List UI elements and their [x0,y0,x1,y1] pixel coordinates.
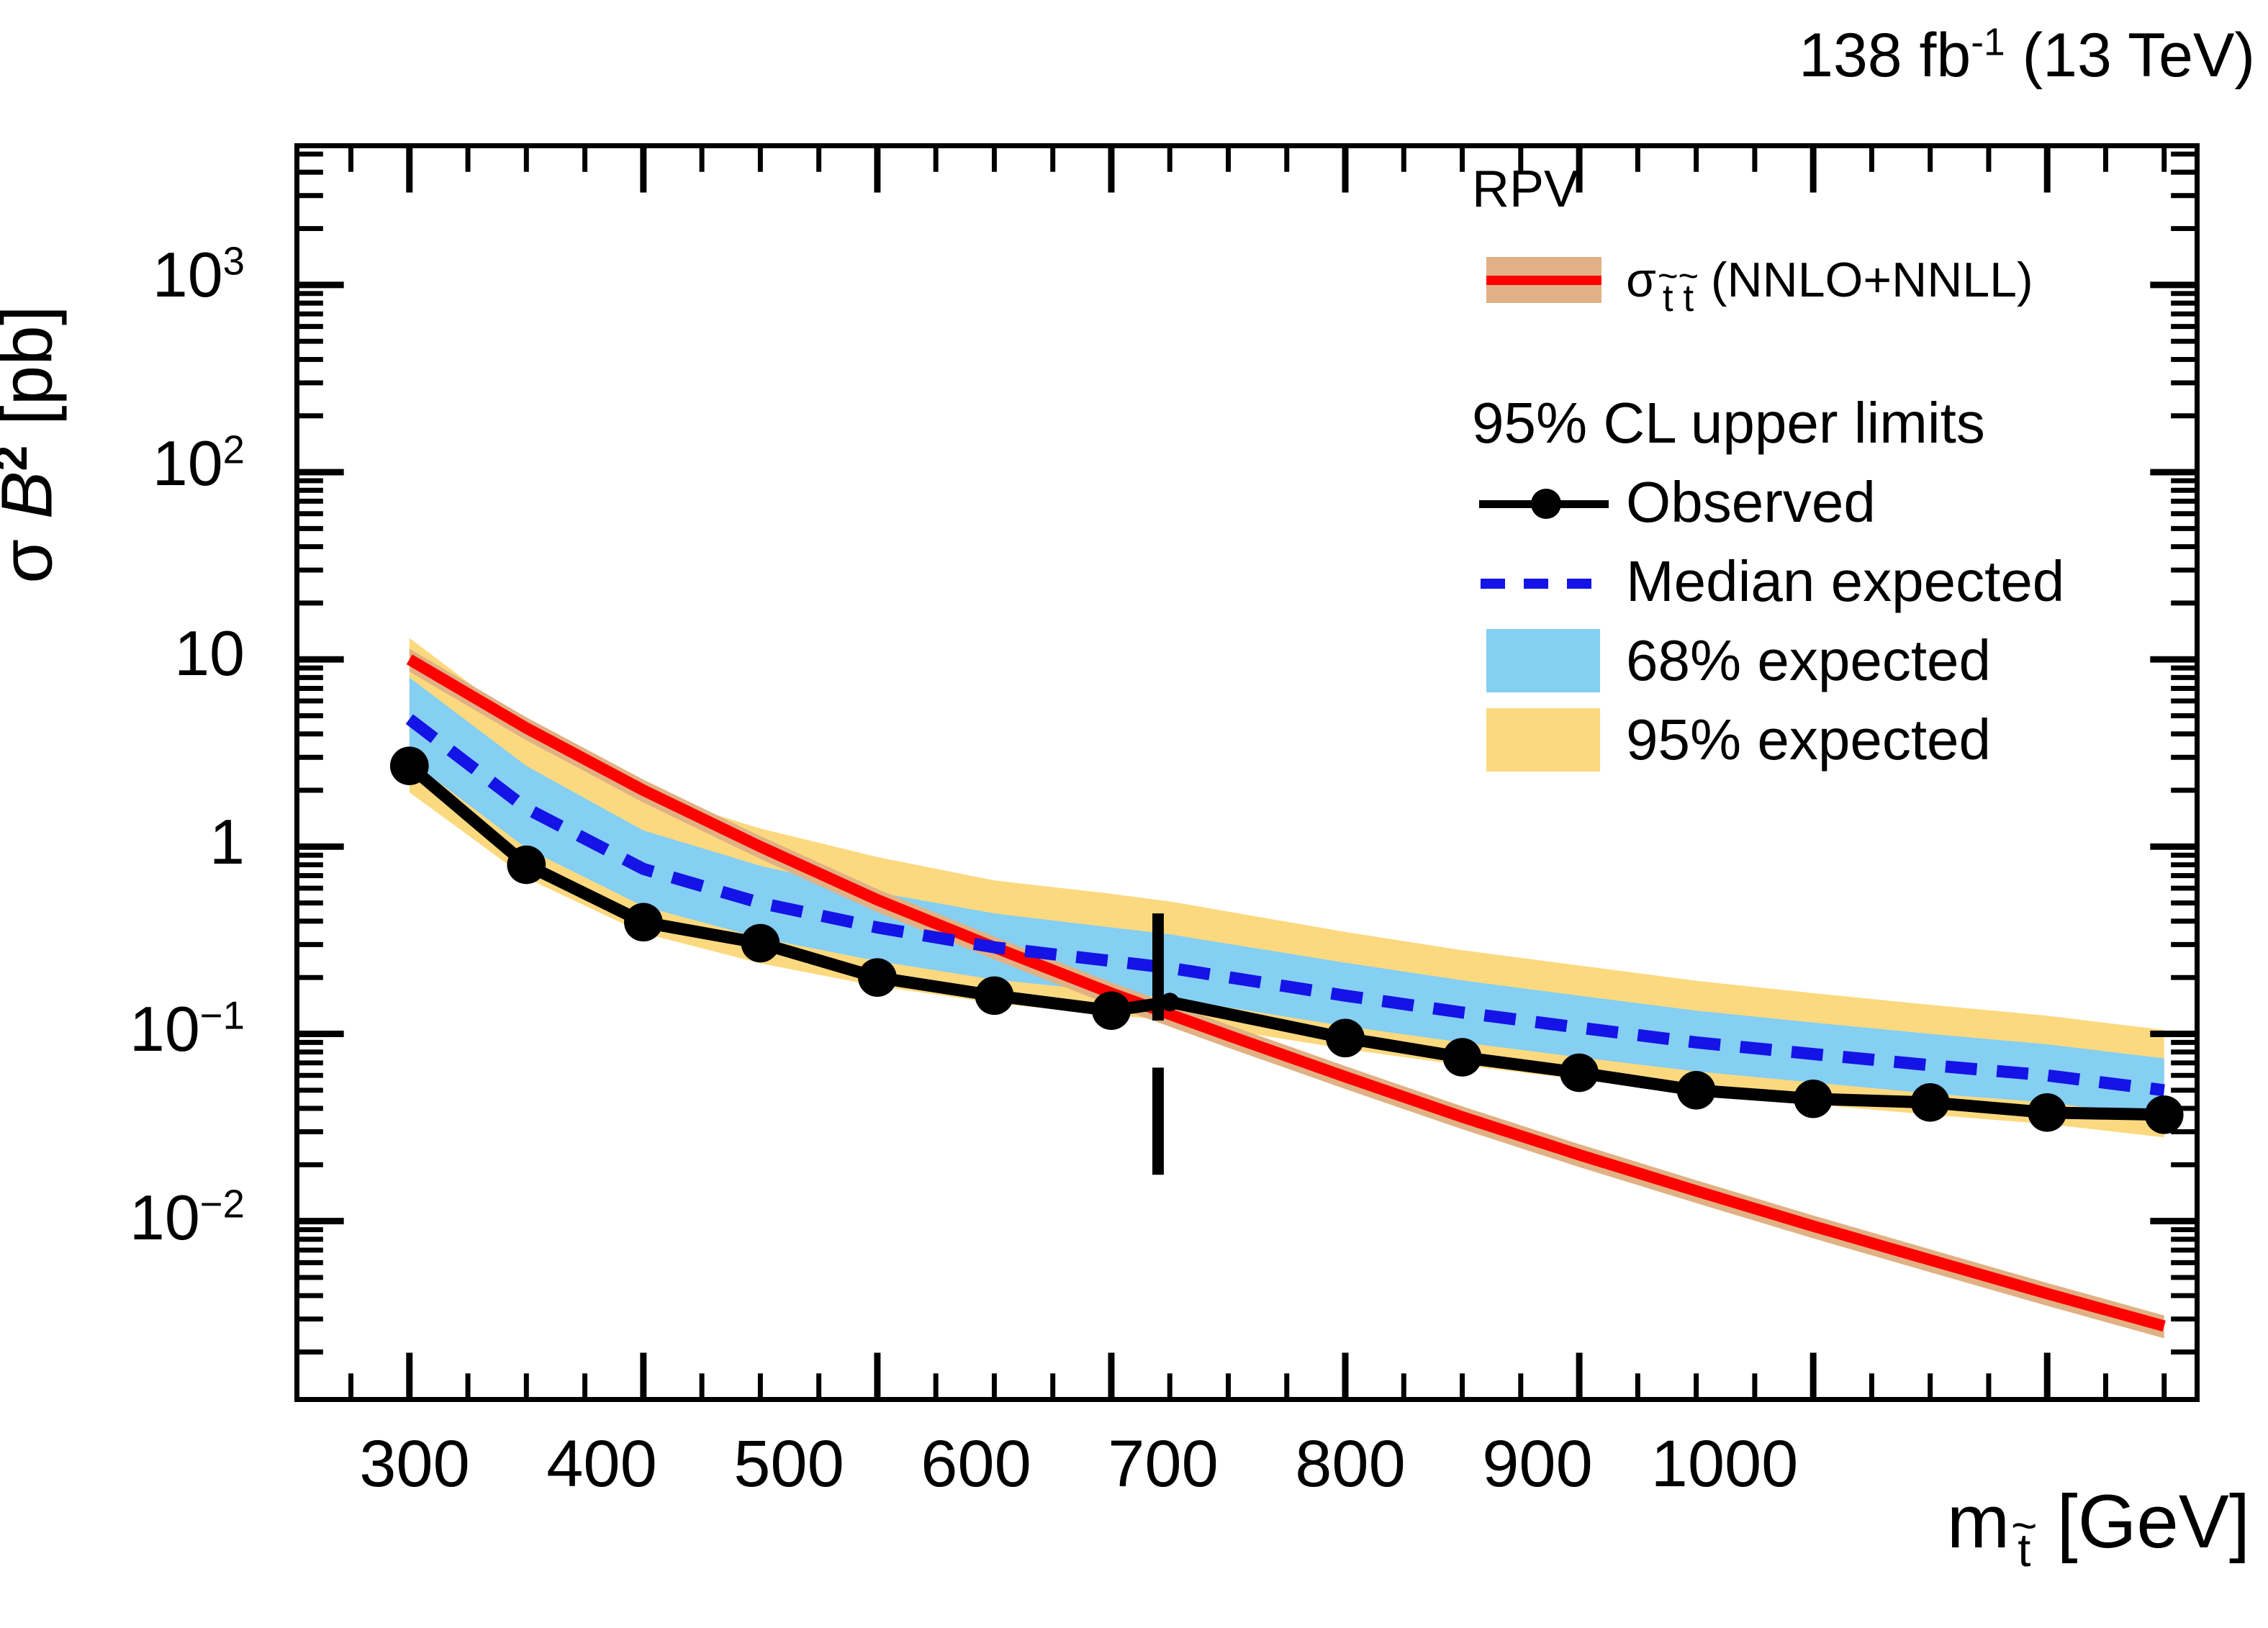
legend-row-band68: 68% expected [1472,626,2192,695]
observed-data-point [1443,1038,1482,1077]
x-title-sub-letter: t [2018,1524,2030,1576]
legend-key-band68 [1472,626,1616,695]
y-tick-label-1: 1 [209,805,245,879]
legend-model-label: RPV [1472,160,2192,219]
chart-page: 138 fb-1 (13 TeV) CMS Preliminary σ B2 [… [0,0,2268,1628]
observed-data-point [624,903,663,942]
legend-label-band68: 68% expected [1616,628,1991,694]
legend-key-observed [1472,468,1616,537]
theory-sub-1: ~t [1658,271,1679,313]
y-axis-title: σ B2 [pb] [0,0,69,913]
legend-row-observed: Observed [1472,468,2192,537]
x-tick-label-400: 400 [508,1426,695,1502]
legend-label-band95: 95% expected [1616,707,1991,773]
observed-data-point [1677,1071,1716,1110]
observed-data-point [741,924,780,963]
y-title-exponent: 2 [0,446,37,471]
x-title-m: m [1947,1480,2010,1564]
y-tick-label-1e-2: 10−2 [130,1181,245,1254]
theory-line-swatch [1486,276,1601,285]
theory-sub-2: ~t [1678,271,1699,313]
y-title-unit: [pb] [0,305,68,446]
lumi-exponent: -1 [1971,21,2005,63]
band95-swatch [1486,708,1600,772]
legend-label-expected: Median expected [1616,548,2064,615]
observed-data-point [1794,1080,1833,1118]
observed-data-point [1092,991,1131,1030]
x-tick-label-800: 800 [1257,1426,1444,1502]
observed-data-point [1326,1019,1365,1058]
y-title-sigma: σ [0,519,68,584]
observed-data-point [390,746,429,785]
legend-key-expected [1472,547,1616,616]
legend-cl-title: 95% CL upper limits [1472,390,2192,456]
observed-data-point [1911,1083,1950,1122]
expected-dash-swatch [1481,579,1609,589]
y-tick-label-1e2: 102 [153,427,245,500]
legend-row-band95: 95% expected [1472,705,2192,774]
x-tick-label-900: 900 [1444,1426,1631,1502]
lumi-value: 138 fb [1799,21,1971,90]
legend-label-observed: Observed [1616,469,1876,535]
observed-data-point [858,958,897,997]
theory-sigma: σ [1626,253,1656,307]
legend-row-theory: σ~t~t (NNLO+NNLL) [1472,226,2192,334]
y-tick-label-1e3: 103 [153,238,245,312]
luminosity-header: 138 fb-1 (13 TeV) [1799,20,2255,91]
x-tick-label-1000: 1000 [1631,1426,1818,1502]
y-title-b: B [0,471,68,519]
legend-key-band95 [1472,705,1616,774]
y-tick-label-10: 10 [174,617,245,690]
band68-swatch [1486,629,1600,692]
x-tick-label-500: 500 [695,1426,882,1502]
x-tick-label-300: 300 [321,1426,508,1502]
x-axis-title: m~t [GeV] [1947,1479,2250,1565]
x-title-unit: [GeV] [2036,1480,2250,1564]
observed-data-point [975,977,1014,1016]
chart-legend: RPV σ~t~t (NNLO+NNLL) 95% CL upper limit… [1472,160,2192,774]
x-tick-label-700: 700 [1070,1426,1257,1502]
observed-marker-swatch [1531,489,1561,519]
legend-row-expected: Median expected [1472,547,2192,616]
observed-data-point [1560,1054,1599,1093]
y-tick-label-1e-1: 10−1 [130,992,245,1066]
observed-data-point [2028,1093,2066,1132]
legend-label-theory: σ~t~t (NNLO+NNLL) [1616,252,2033,308]
observed-data-point [2145,1095,2184,1134]
x-tick-label-600: 600 [882,1426,1070,1502]
legend-key-theory [1472,245,1616,315]
collision-energy: (13 TeV) [2005,21,2255,90]
theory-band-swatch [1486,257,1601,303]
theory-rest: (NNLO+NNLL) [1697,253,2033,307]
x-title-subscript: ~t [2011,1519,2037,1569]
observed-data-point [507,846,546,885]
